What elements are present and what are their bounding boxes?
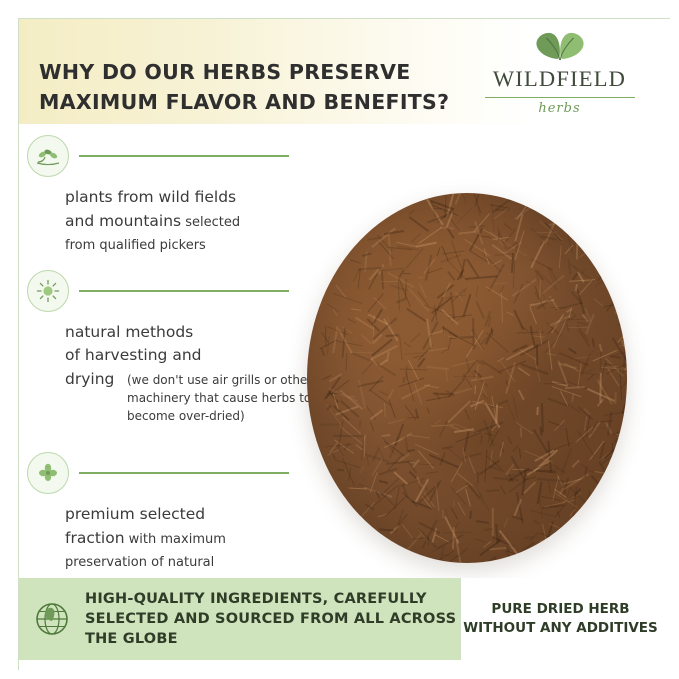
- feature-item-plants: plants from wild fields and mountains se…: [19, 134, 319, 257]
- feature-line-1: plants from wild fields: [65, 186, 315, 209]
- field-plants-icon: [27, 135, 69, 177]
- feature-line-2: and mountains: [65, 212, 181, 230]
- infographic-page: WHY DO OUR HERBS PRESERVE MAXIMUM FLAVOR…: [0, 0, 679, 679]
- banner-quality-text: HIGH-QUALITY INGREDIENTS, CAREFULLY SELE…: [85, 589, 469, 649]
- banner-pure: PURE DRIED HERB WITHOUT ANY ADDITIVES: [460, 578, 660, 660]
- brand-logo: WILDFIELD herbs: [467, 29, 652, 124]
- feature-line-2-tail: selected: [181, 215, 240, 230]
- feature-line-2: of harvesting and: [65, 344, 315, 367]
- two-leaves-icon: [467, 29, 652, 65]
- logo-divider: [485, 97, 635, 98]
- feature-line-2: fraction: [65, 529, 125, 547]
- feature-text: plants from wild fields and mountains se…: [65, 186, 315, 257]
- feature-note: (we don't use air grills or other machin…: [127, 371, 315, 425]
- feature-line-1: premium selected: [65, 503, 315, 526]
- brand-name: WILDFIELD: [467, 66, 652, 92]
- feature-line-3: drying: [65, 370, 114, 388]
- feature-divider: [79, 155, 289, 157]
- page-title: WHY DO OUR HERBS PRESERVE MAXIMUM FLAVOR…: [39, 57, 469, 117]
- feature-line-3: from qualified pickers: [65, 234, 315, 257]
- dried-herb-disc: [307, 193, 627, 563]
- feature-divider: [79, 290, 289, 292]
- feature-header: [19, 134, 319, 178]
- feature-divider: [79, 472, 289, 474]
- banner-quality: HIGH-QUALITY INGREDIENTS, CAREFULLY SELE…: [19, 578, 469, 660]
- feature-header: [19, 451, 319, 495]
- feature-text: natural methods of harvesting and drying…: [65, 321, 315, 425]
- feature-line-2-tail: with maximum: [125, 532, 226, 547]
- banner-pure-text: PURE DRIED HERB WITHOUT ANY ADDITIVES: [461, 600, 660, 638]
- clover-leaf-icon: [27, 452, 69, 494]
- globe-leaf-icon: [19, 598, 85, 640]
- feature-item-drying: natural methods of harvesting and drying…: [19, 269, 319, 425]
- sun-icon: [27, 270, 69, 312]
- feature-header: [19, 269, 319, 313]
- brand-subtitle: herbs: [467, 101, 652, 116]
- feature-list: plants from wild fields and mountains se…: [19, 134, 319, 632]
- product-image: [297, 171, 629, 581]
- feature-line-1: natural methods: [65, 321, 315, 344]
- feature-line-3: preservation of natural: [65, 551, 315, 574]
